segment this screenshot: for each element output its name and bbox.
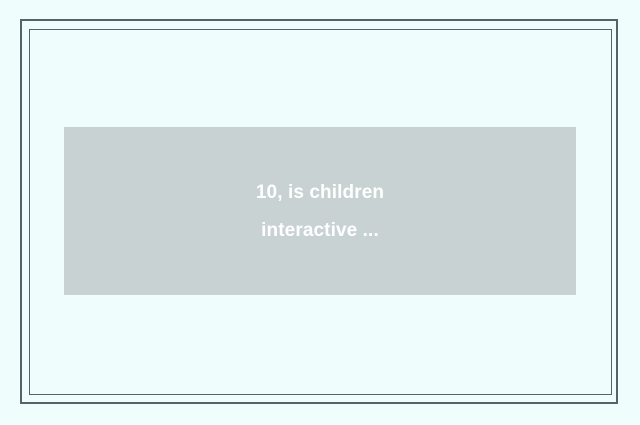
placeholder-caption-line-1: 10, is children	[256, 183, 384, 202]
placeholder-caption-line-2: interactive ...	[256, 221, 384, 240]
placeholder-caption: 10, is children interactive ...	[256, 183, 384, 240]
image-placeholder-box: 10, is children interactive ...	[64, 127, 576, 295]
page-root: 10, is children interactive ...	[0, 0, 640, 425]
